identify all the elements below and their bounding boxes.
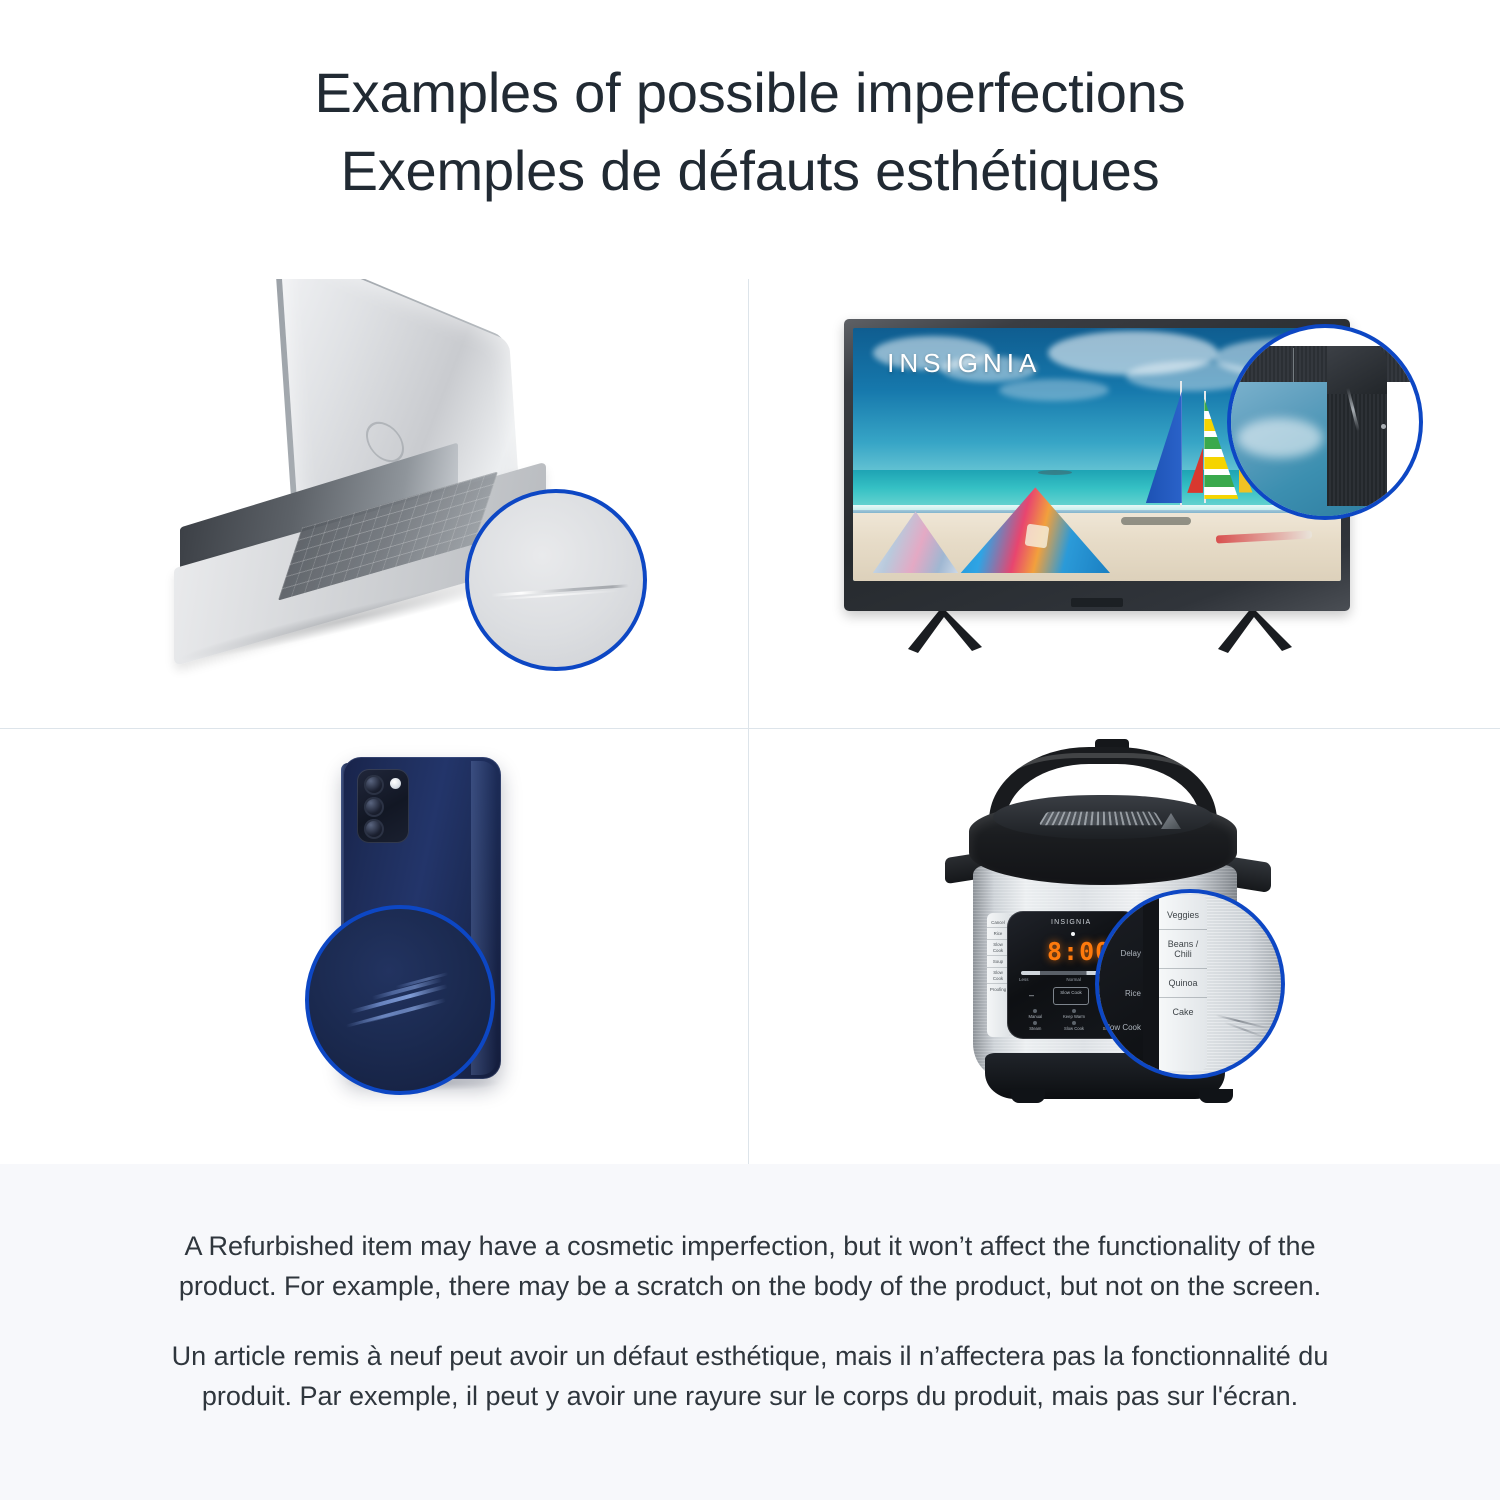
tv-brand-plate bbox=[1071, 598, 1123, 607]
cooker-magnified-button: Beans / Chili bbox=[1159, 930, 1207, 969]
tv-scene-cloud bbox=[999, 379, 1109, 401]
phone-magnifier-circle bbox=[305, 905, 495, 1095]
laptop-magnifier-circle bbox=[465, 489, 647, 671]
cooker-grid-button[interactable]: Steam bbox=[1017, 1021, 1054, 1031]
cooker-left-button-column[interactable]: Cancel Rice Slow Cook Soup Slow Cook Pro… bbox=[987, 913, 1009, 1037]
camera-flash-icon bbox=[390, 778, 401, 789]
explanation-footer-inner: A Refurbished item may have a cosmetic i… bbox=[0, 1164, 1500, 1416]
product-examples-grid: INSIGNIA bbox=[0, 279, 1500, 1164]
page-title-english: Examples of possible imperfections bbox=[0, 54, 1500, 132]
panel-smartphone bbox=[0, 729, 748, 1164]
cooker-lid-warning-label bbox=[1038, 812, 1163, 826]
cooker-button-led-icon bbox=[1072, 1021, 1076, 1025]
pressure-cooker-illustration: Cancel Rice Slow Cook Soup Slow Cook Pro… bbox=[947, 737, 1327, 1137]
cooker-led-display: 8:00 bbox=[1047, 939, 1103, 965]
cooker-magnified-button: Cake bbox=[1159, 998, 1207, 1026]
tv-foot-right bbox=[1208, 607, 1296, 651]
tv-magnified-bezel-seam bbox=[1293, 348, 1294, 382]
cooker-button[interactable]: Rice bbox=[987, 928, 1009, 939]
cooker-brand-label: INSIGNIA bbox=[1051, 919, 1091, 926]
cooker-grid-button-label: Manual bbox=[1028, 1014, 1042, 1019]
tv-magnified-bezel-top bbox=[1227, 346, 1423, 382]
tv-scene-sail-emblem bbox=[1025, 524, 1050, 549]
tv-foot-left bbox=[898, 607, 986, 651]
cooker-magnified-button-column: Veggies Beans / Chili Quinoa Cake bbox=[1159, 895, 1207, 1071]
cooker-lid-label-text bbox=[1038, 812, 1163, 826]
tv-bottom-bezel bbox=[844, 581, 1350, 611]
television-illustration: INSIGNIA bbox=[844, 319, 1404, 689]
explanation-english: A Refurbished item may have a cosmetic i… bbox=[170, 1226, 1330, 1306]
cooker-status-indicator bbox=[1071, 932, 1075, 936]
cooker-button-led-icon bbox=[1072, 1009, 1076, 1013]
page-title: Examples of possible imperfections Exemp… bbox=[0, 54, 1500, 210]
imperfections-infographic: Examples of possible imperfections Exemp… bbox=[0, 0, 1500, 1500]
cooker-button-led-icon bbox=[1033, 1021, 1037, 1025]
cooker-grid-button[interactable]: Slow Cook bbox=[1056, 1021, 1093, 1031]
cooker-foot bbox=[1011, 1089, 1045, 1103]
cooker-grid-button-label: Keep Warm bbox=[1063, 1014, 1085, 1019]
cooker-center-button[interactable]: Slow Cook bbox=[1053, 987, 1089, 1005]
camera-lens-icon bbox=[364, 797, 384, 817]
cooker-scale-label-center: Normal bbox=[1066, 977, 1081, 982]
tv-screen-logo: INSIGNIA bbox=[887, 348, 1041, 379]
cooker-magnified-panel bbox=[1095, 889, 1149, 1079]
cooker-handle-highlight bbox=[1005, 753, 1201, 783]
cooker-button-led-icon bbox=[1033, 1009, 1037, 1013]
panel-laptop bbox=[0, 279, 748, 728]
cooker-minus-button[interactable]: – bbox=[1029, 991, 1034, 1000]
panel-pressure-cooker: Cancel Rice Slow Cook Soup Slow Cook Pro… bbox=[749, 729, 1500, 1164]
tv-magnified-blemish bbox=[1381, 424, 1386, 429]
laptop-illustration bbox=[170, 297, 590, 697]
cooker-button[interactable]: Cancel bbox=[987, 917, 1009, 928]
cooker-scale-label-left: Less bbox=[1019, 977, 1029, 982]
cooker-grid-button-label: Steam bbox=[1029, 1026, 1041, 1031]
tv-magnified-cloud bbox=[1237, 418, 1323, 458]
cooker-button[interactable]: Proofing bbox=[987, 984, 1009, 994]
tv-magnified-bezel-corner bbox=[1327, 346, 1387, 394]
cooker-magnified-button: Quinoa bbox=[1159, 969, 1207, 998]
page-title-french: Exemples de défauts esthétiques bbox=[0, 132, 1500, 210]
cooker-button[interactable]: Slow Cook bbox=[987, 940, 1009, 957]
cooker-magnifier-circle: Delay Rice Slow Cook Veggies Beans / Chi… bbox=[1095, 889, 1285, 1079]
tv-scene-beached-hull bbox=[1121, 517, 1191, 525]
explanation-french: Un article remis à neuf peut avoir un dé… bbox=[170, 1336, 1330, 1416]
tv-magnifier-circle bbox=[1227, 324, 1423, 520]
cooker-grid-button[interactable]: Keep Warm bbox=[1056, 1009, 1093, 1019]
cooker-magnified-side-label: Delay bbox=[1101, 949, 1141, 958]
tv-scene-distant-boat bbox=[1038, 470, 1072, 475]
phone-camera-module bbox=[357, 769, 409, 843]
cooker-foot bbox=[1199, 1089, 1233, 1103]
cooker-magnified-side-label: Rice bbox=[1101, 989, 1141, 998]
cooker-magnified-side-label: Slow Cook bbox=[1101, 1023, 1141, 1032]
cooker-grid-button-label: Slow Cook bbox=[1064, 1026, 1084, 1031]
explanation-footer: A Refurbished item may have a cosmetic i… bbox=[0, 1164, 1500, 1500]
cooker-grid-button[interactable]: Manual bbox=[1017, 1009, 1054, 1019]
smartphone-illustration bbox=[275, 757, 525, 1137]
cooker-button[interactable]: Slow Cook bbox=[987, 968, 1009, 985]
cooker-magnified-button: Veggies bbox=[1159, 901, 1207, 930]
panel-television: INSIGNIA bbox=[749, 279, 1500, 728]
camera-lens-icon bbox=[364, 775, 384, 795]
camera-lens-icon bbox=[364, 819, 384, 839]
cooker-button[interactable]: Soup bbox=[987, 956, 1009, 967]
